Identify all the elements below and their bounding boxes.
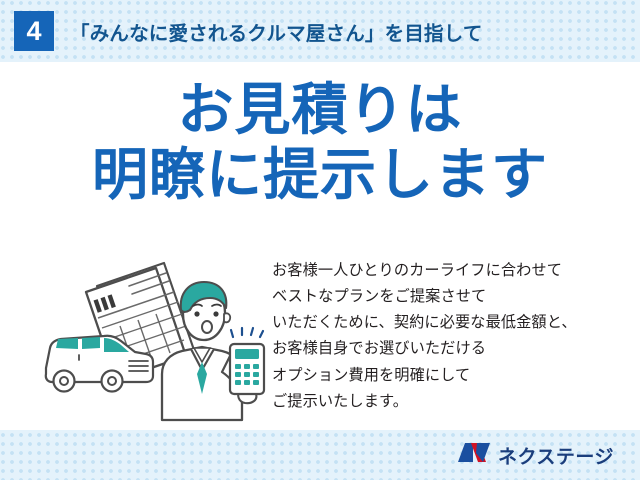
body-line: オプション費用を明確にして [272, 363, 632, 389]
headline-line-1: お見積りは [0, 80, 640, 139]
brand-wordmark: ネクステージ [498, 442, 614, 469]
body-line: ベストなプランをご提案させて [272, 284, 632, 310]
body-copy: お客様一人ひとりのカーライフに合わせて ベストなプランをご提案させて いただくた… [272, 258, 632, 415]
slide-header: 4 「みんなに愛されるクルマ屋さん」を目指して [0, 0, 640, 62]
promo-slide: 4 「みんなに愛されるクルマ屋さん」を目指して お見積りは 明瞭に提示します [0, 0, 640, 480]
body-line: お客様自身でお選びいただける [272, 336, 632, 362]
nextage-n-logo-icon [457, 441, 491, 469]
sales-illustration [34, 252, 274, 427]
header-title: 「みんなに愛されるクルマ屋さん」を目指して [70, 17, 483, 46]
slide-footer: ネクステージ [0, 430, 640, 480]
body-line: お客様一人ひとりのカーライフに合わせて [272, 258, 632, 284]
headline-line-2: 明瞭に提示します [0, 145, 640, 204]
headline-block: お見積りは 明瞭に提示します [0, 80, 640, 205]
content-panel: お見積りは 明瞭に提示します [0, 62, 640, 430]
brand-logo: ネクステージ [457, 441, 614, 469]
body-line: いただくために、契約に必要な最低金額と、 [272, 310, 632, 336]
calculator-icon [230, 328, 264, 394]
step-number-badge: 4 [14, 11, 54, 51]
body-line: ご提示いたします。 [272, 389, 632, 415]
